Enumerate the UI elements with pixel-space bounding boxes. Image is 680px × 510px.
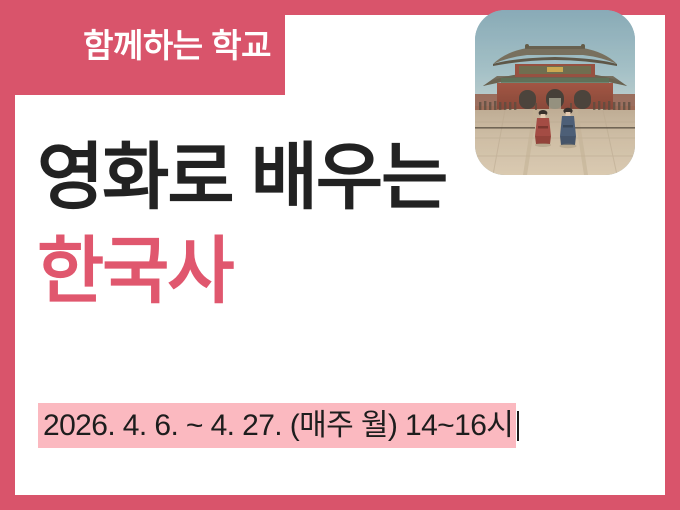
title-line-2: 한국사 — [37, 229, 617, 315]
ribbon-label: 함께하는 학교 — [83, 29, 271, 66]
poster-frame: 함께하는 학교 — [0, 0, 680, 510]
palace-photo-illustration — [475, 10, 635, 175]
text-caret — [517, 411, 519, 441]
palace-photo — [475, 10, 635, 175]
schedule-text: 2026. 4. 6. ~ 4. 27. (매주 월) 14~16시 — [38, 403, 516, 448]
schedule-block: 2026. 4. 6. ~ 4. 27. (매주 월) 14~16시 — [38, 403, 628, 448]
ribbon-banner: 함께하는 학교 — [0, 0, 285, 95]
